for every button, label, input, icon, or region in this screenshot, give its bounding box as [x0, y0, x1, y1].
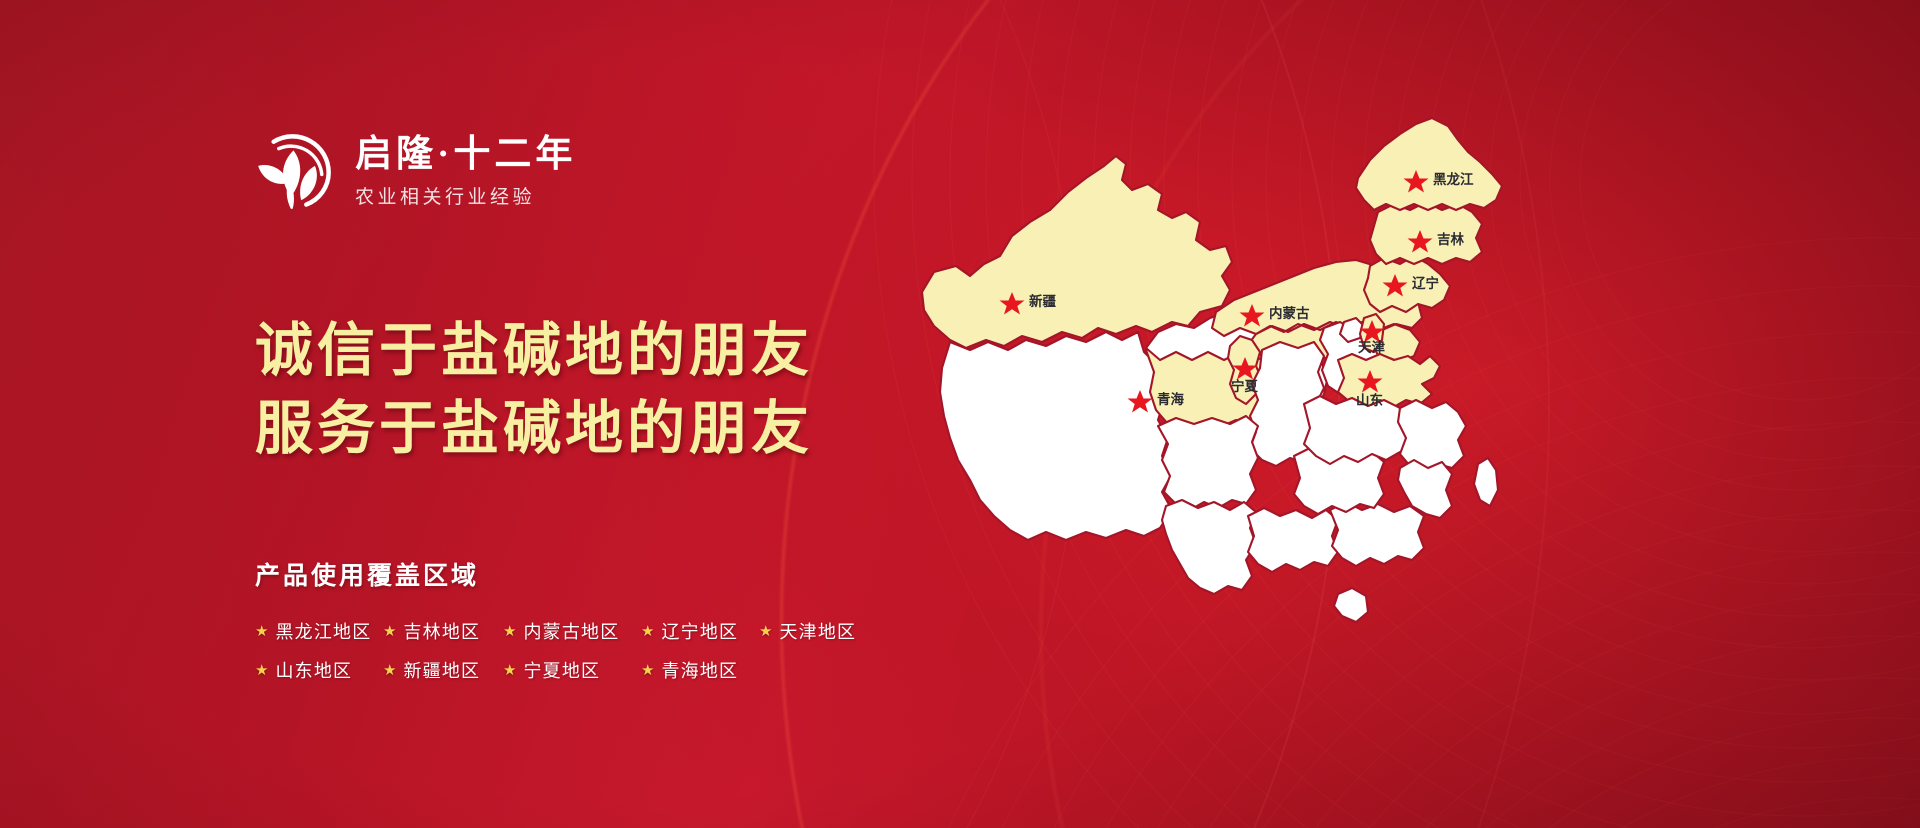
province-yunnan[interactable]: [1162, 500, 1256, 594]
province-jilin[interactable]: [1370, 202, 1482, 264]
province-sichuan[interactable]: [1158, 416, 1258, 510]
map-marker-label: 天津: [1358, 339, 1386, 355]
province-hainan[interactable]: [1334, 588, 1368, 622]
map-marker-label: 黑龙江: [1433, 171, 1474, 187]
region-label: 山东地区: [275, 657, 352, 683]
region-item-qinghai[interactable]: ★ 青海地区: [641, 657, 738, 683]
map-marker-label: 新疆: [1029, 293, 1057, 309]
star-icon: ★: [383, 624, 396, 639]
province-xinjiang[interactable]: [922, 156, 1232, 348]
headline-line-1: 诚信于盐碱地的朋友: [255, 312, 813, 390]
region-label: 辽宁地区: [661, 618, 738, 644]
star-icon: ★: [641, 663, 654, 678]
star-icon: ★: [759, 624, 772, 639]
region-label: 黑龙江地区: [275, 618, 371, 644]
province-jiangsu-zhejiang[interactable]: [1398, 400, 1466, 472]
star-icon: ★: [503, 663, 516, 678]
region-label: 青海地区: [661, 657, 738, 683]
promo-banner: 启隆·十二年 农业相关行业经验 诚信于盐碱地的朋友 服务于盐碱地的朋友 产品使用…: [0, 0, 1920, 828]
region-item-jilin[interactable]: ★ 吉林地区: [383, 618, 483, 644]
star-icon: ★: [641, 624, 654, 639]
province-taiwan[interactable]: [1474, 458, 1498, 506]
map-marker-label: 内蒙古: [1269, 305, 1310, 321]
map-marker-label: 山东: [1356, 392, 1384, 408]
leaf-circle-logo-icon: [253, 128, 339, 214]
region-label: 内蒙古地区: [523, 618, 619, 644]
region-item-heilongjiang[interactable]: ★ 黑龙江地区: [255, 618, 363, 644]
star-icon: ★: [255, 663, 268, 678]
headline-line-2: 服务于盐碱地的朋友: [255, 390, 813, 468]
map-marker-label: 青海: [1157, 391, 1185, 407]
region-item-tianjin[interactable]: ★ 天津地区: [759, 618, 856, 644]
coverage-region-row-1: ★ 黑龙江地区 ★ 吉林地区 ★ 内蒙古地区 ★ 辽宁地区 ★ 天津地区: [255, 618, 955, 644]
province-guangxi[interactable]: [1248, 508, 1338, 572]
region-item-inner-mongolia[interactable]: ★ 内蒙古地区: [503, 618, 623, 644]
star-icon: ★: [503, 624, 516, 639]
star-icon: ★: [255, 624, 268, 639]
map-marker-label: 辽宁: [1412, 275, 1439, 291]
headline-block: 诚信于盐碱地的朋友 服务于盐碱地的朋友: [255, 312, 813, 467]
region-item-shandong[interactable]: ★ 山东地区: [255, 657, 363, 683]
brand-title: 启隆·十二年: [355, 133, 576, 177]
region-label: 吉林地区: [403, 618, 480, 644]
coverage-heading: 产品使用覆盖区域: [255, 556, 479, 592]
map-marker-label: 吉林: [1437, 231, 1465, 247]
province-tibet[interactable]: [940, 332, 1172, 540]
region-item-ningxia[interactable]: ★ 宁夏地区: [503, 657, 623, 683]
region-item-liaoning[interactable]: ★ 辽宁地区: [641, 618, 741, 644]
region-item-xinjiang[interactable]: ★ 新疆地区: [383, 657, 483, 683]
china-map-svg: 黑龙江 吉林 辽宁 内蒙古 天津: [900, 60, 1600, 740]
coverage-region-list: ★ 黑龙江地区 ★ 吉林地区 ★ 内蒙古地区 ★ 辽宁地区 ★ 天津地区: [255, 618, 955, 696]
region-label: 天津地区: [779, 618, 856, 644]
province-heilongjiang[interactable]: [1356, 118, 1502, 210]
star-icon: ★: [383, 663, 396, 678]
brand-subtitle: 农业相关行业经验: [355, 182, 576, 209]
region-label: 新疆地区: [403, 657, 480, 683]
brand-text: 启隆·十二年 农业相关行业经验: [355, 133, 576, 210]
coverage-region-row-2: ★ 山东地区 ★ 新疆地区 ★ 宁夏地区 ★ 青海地区: [255, 657, 955, 683]
map-marker-label: 宁夏: [1231, 378, 1259, 394]
china-province-map: 黑龙江 吉林 辽宁 内蒙古 天津: [900, 60, 1600, 740]
region-label: 宁夏地区: [523, 657, 600, 683]
brand-logo: 启隆·十二年 农业相关行业经验: [253, 128, 576, 214]
